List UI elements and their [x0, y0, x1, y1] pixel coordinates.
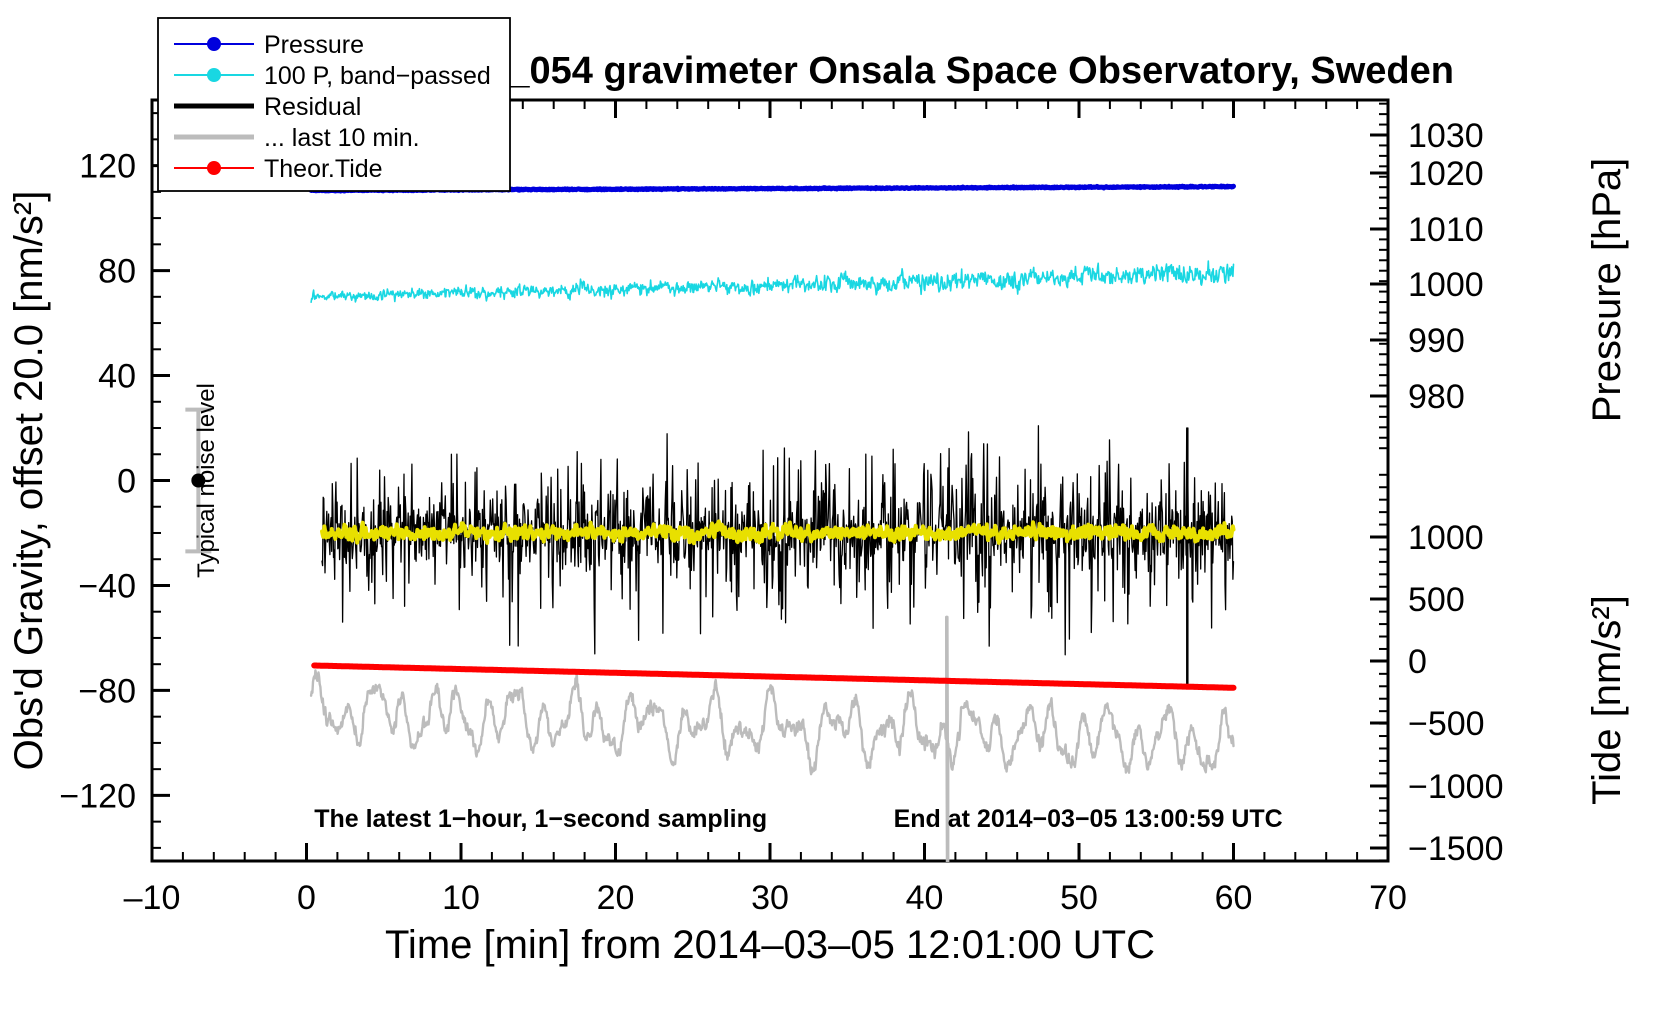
x-tick-label: 30	[751, 879, 789, 917]
data-series	[311, 186, 1233, 874]
legend-marker-0	[207, 37, 221, 51]
x-tick-label: 10	[442, 879, 480, 917]
tide-tick-label: −500	[1408, 705, 1485, 743]
chart-canvas: ‒10010203040506070−120−80−40040801209809…	[0, 0, 1660, 1020]
plot-border	[152, 100, 1388, 861]
y-tick-label: 120	[79, 148, 136, 186]
series-100-p-band-passed	[311, 261, 1233, 302]
pressure-tick-label: 1030	[1408, 117, 1484, 155]
x-tick-label: 50	[1060, 879, 1098, 917]
legend-label-3: ... last 10 min.	[264, 124, 420, 152]
x-tick-label: 40	[906, 879, 944, 917]
tide-tick-label: 500	[1408, 581, 1465, 619]
y-tick-label: 0	[117, 463, 136, 501]
x-tick-label: 0	[297, 879, 316, 917]
legend-marker-4	[207, 161, 221, 175]
legend-label-0: Pressure	[264, 31, 364, 59]
legend-label-2: Residual	[264, 93, 361, 121]
y-axis-label: Obs'd Gravity, offset 20.0 [nm/s²]	[7, 191, 51, 771]
end-time-note: End at 2014−03−05 13:00:59 UTC	[894, 805, 1283, 833]
x-tick-label: ‒10	[124, 879, 181, 917]
tide-tick-label: 1000	[1408, 519, 1484, 557]
legend-label-4: Theor.Tide	[264, 155, 383, 183]
y-tick-label: 80	[98, 253, 136, 291]
pressure-tick-label: 990	[1408, 322, 1465, 360]
pressure-tick-label: 1020	[1408, 155, 1484, 193]
legend-marker-1	[207, 68, 221, 82]
series-theor-tide	[314, 666, 1233, 688]
legend-label-1: 100 P, band−passed	[264, 62, 491, 90]
pressure-axis-label: Pressure [hPa]	[1585, 158, 1629, 423]
annotations: Typical noise levelThe latest 1−hour, 1−…	[193, 383, 1283, 833]
series-last-10-min	[311, 617, 1233, 874]
tide-axis-ticks: −1500−1000−50005001000	[1370, 475, 1504, 868]
noise-level-label: Typical noise level	[193, 383, 220, 578]
y-tick-label: 40	[98, 358, 136, 396]
tide-tick-label: −1500	[1408, 830, 1504, 868]
y-tick-label: −40	[78, 567, 136, 605]
chart-title: SCG_054 gravimeter Onsala Space Observat…	[426, 50, 1454, 92]
x-tick-label: 70	[1369, 879, 1407, 917]
legend: Pressure100 P, band−passedResidual... la…	[158, 18, 510, 191]
x-tick-label: 20	[597, 879, 635, 917]
plot-frame	[152, 100, 1388, 861]
x-axis-label: Time [min] from 2014‒03‒05 12:01:00 UTC	[385, 923, 1155, 967]
pressure-tick-label: 1010	[1408, 211, 1484, 249]
sampling-note: The latest 1−hour, 1−second sampling	[314, 805, 767, 833]
pressure-tick-label: 1000	[1408, 266, 1484, 304]
tide-tick-label: 0	[1408, 643, 1427, 681]
chart-title-group: SCG_054 gravimeter Onsala Space Observat…	[426, 50, 1454, 92]
series-residual	[322, 426, 1234, 685]
pressure-tick-label: 980	[1408, 378, 1465, 416]
gravimeter-timeseries-plot: ‒10010203040506070−120−80−40040801209809…	[0, 0, 1660, 1020]
tide-tick-label: −1000	[1408, 768, 1504, 806]
y-tick-label: −120	[59, 777, 136, 815]
tide-axis-label: Tide [nm/s²]	[1585, 595, 1629, 805]
x-tick-label: 60	[1215, 879, 1253, 917]
y-tick-label: −80	[78, 672, 136, 710]
